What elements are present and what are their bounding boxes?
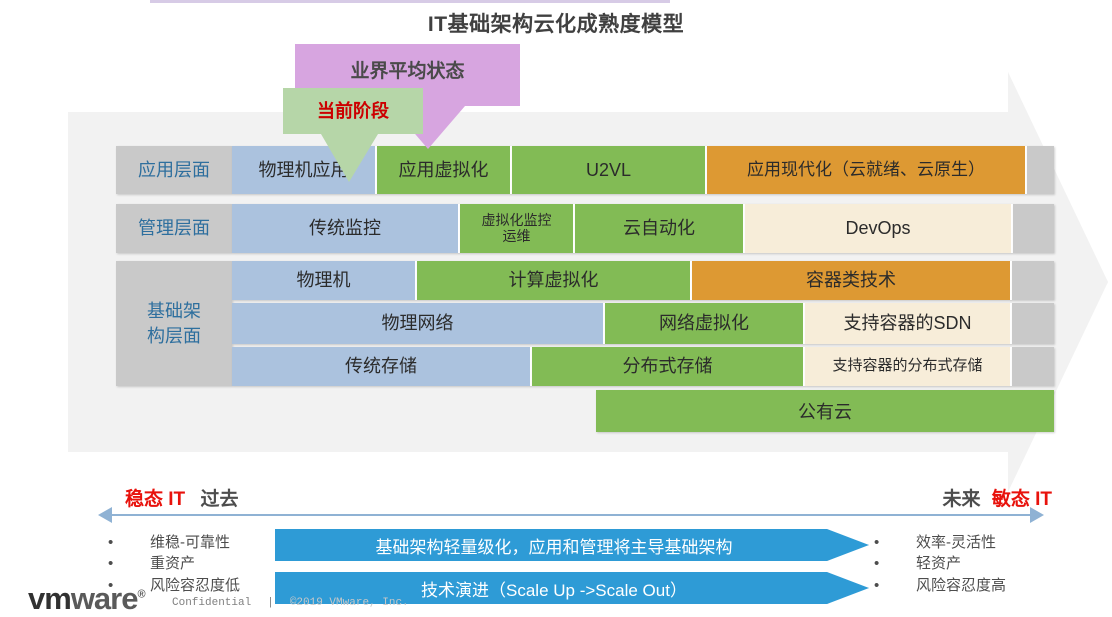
cell-devops: DevOps [745,204,1013,253]
timeline-axis [110,514,1042,516]
footer-separator: | [267,597,274,609]
axis-label-right-red: 敏态 IT [992,489,1052,510]
cell-app-virtualization: 应用虚拟化 [377,146,512,194]
row-label-application: 应用层面 [116,146,232,194]
bullet-marker-icon: • [874,532,916,553]
list-item: • 维稳-可靠性 [108,532,278,553]
bullet-marker-icon: • [108,553,150,574]
bullet-text: 轻资产 [916,553,1074,574]
cell-virtualization-monitoring-ops: 虚拟化监控 运维 [460,204,575,253]
axis-label-right-dark: 未来 [943,489,981,510]
bullet-text: 效率-灵活性 [916,532,1074,553]
row-label-infrastructure-line2: 构层面 [147,324,201,348]
cell-app-tail [1027,146,1054,194]
cell-app-modernization: 应用现代化（云就绪、云原生） [707,146,1027,194]
callout-industry-average-label: 业界平均状态 [295,56,520,83]
cell-traditional-monitoring: 传统监控 [232,204,460,253]
cell-infra-tail-3 [1012,347,1054,386]
cell-mgmt-tail [1013,204,1054,253]
cell-compute-virtualization: 计算虚拟化 [417,261,692,300]
cell-u2vl: U2VL [512,146,707,194]
cell-physical-network: 物理网络 [232,303,605,344]
bullet-text: 重资产 [150,553,278,574]
row-label-infrastructure-line1: 基础架 [147,299,201,323]
infra-line-network: 物理网络 网络虚拟化 支持容器的SDN [232,303,1054,342]
axis-label-left-dark: 过去 [200,489,238,510]
row-label-infrastructure: 基础架 构层面 [116,261,232,386]
footer-confidential-label: Confidential [172,597,251,609]
cell-container-distributed-storage: 支持容器的分布式存储 [805,347,1012,386]
axis-label-left: 稳态 IT 过去 [125,484,238,511]
cell-physical-machine: 物理机 [232,261,417,300]
page-title: IT基础架构云化成熟度模型 [0,8,1112,38]
bullet-list-right: • 效率-灵活性 • 轻资产 • 风险容忍度高 [874,532,1074,596]
bullet-marker-icon: • [874,575,916,596]
infra-line-storage: 传统存储 分布式存储 支持容器的分布式存储 [232,347,1054,386]
cell-public-cloud: 公有云 [596,390,1054,432]
top-decoration-band [150,0,670,3]
footer-copyright: ©2019 VMware, Inc. [290,597,409,609]
infra-line-compute: 物理机 计算虚拟化 容器类技术 [232,261,1054,300]
vmware-logo-vm: vm [28,581,71,616]
footer-confidential: Confidential|©2019 VMware, Inc. [172,597,409,609]
axis-label-right: 未来 敏态 IT [943,484,1052,511]
layer-row-management: 管理层面 传统监控 虚拟化监控 运维 云自动化 DevOps [116,204,1054,253]
bullet-text: 风险容忍度低 [150,575,278,596]
cell-infra-tail-2 [1012,303,1054,344]
vmware-logo: vmware® [28,581,145,617]
axis-arrow-left-icon [98,507,112,523]
cell-cloud-automation: 云自动化 [575,204,745,253]
bullet-marker-icon: • [108,532,150,553]
cell-traditional-storage: 传统存储 [232,347,532,386]
blue-arrow-infrastructure-trend: 基础架构轻量级化，应用和管理将主导基础架构 [275,529,869,561]
axis-label-left-red: 稳态 IT [125,489,185,510]
row-label-management: 管理层面 [116,204,232,253]
layer-row-application: 应用层面 物理机应用 应用虚拟化 U2VL 应用现代化（云就绪、云原生） [116,146,1054,194]
blue-arrow-1-label: 基础架构轻量级化，应用和管理将主导基础架构 [376,533,733,558]
list-item: • 风险容忍度高 [874,575,1074,596]
bullet-text: 风险容忍度高 [916,575,1074,596]
cell-container-sdn: 支持容器的SDN [805,303,1012,344]
blue-arrow-2-label: 技术演进（Scale Up ->Scale Out） [421,576,687,601]
cell-infra-tail-1 [1012,261,1054,300]
callout-current-stage-label: 当前阶段 [283,97,423,123]
list-item: • 效率-灵活性 [874,532,1074,553]
slide-canvas: IT基础架构云化成熟度模型 应用层面 物理机应用 应用虚拟化 U2VL 应用现代… [0,0,1112,617]
layer-row-infrastructure: 基础架 构层面 物理机 计算虚拟化 容器类技术 物理网络 网络虚拟化 支持容器的… [116,261,1054,386]
cell-container-tech: 容器类技术 [692,261,1012,300]
cell-distributed-storage: 分布式存储 [532,347,805,386]
list-item: • 重资产 [108,553,278,574]
vmware-logo-ware: ware [71,581,138,616]
vmware-logo-registered-icon: ® [137,589,144,601]
cell-network-virtualization: 网络虚拟化 [605,303,805,344]
list-item: • 轻资产 [874,553,1074,574]
bullet-marker-icon: • [874,553,916,574]
bullet-text: 维稳-可靠性 [150,532,278,553]
